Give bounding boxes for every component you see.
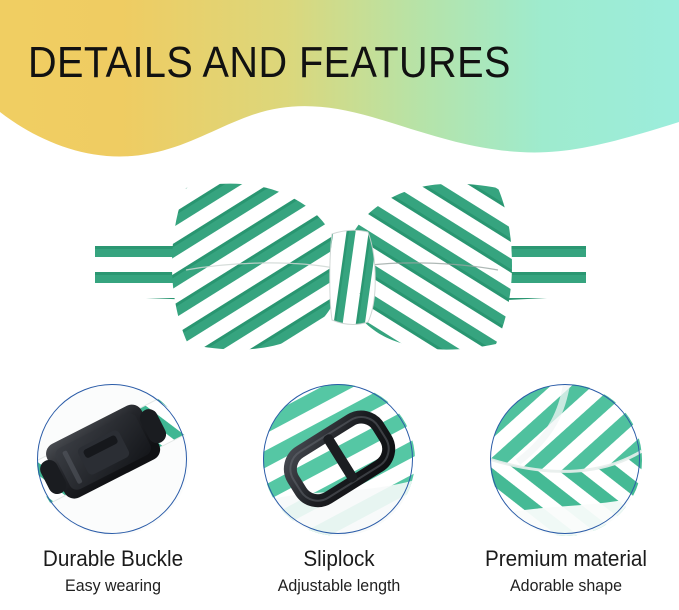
feature-row: Durable Buckle Easy wearing xyxy=(0,378,679,610)
feature-image-material xyxy=(490,384,642,536)
feature-title: Sliplock xyxy=(233,546,445,572)
feature-card-sliplock: Sliplock Adjustable length xyxy=(226,378,452,610)
sliplock-illustration xyxy=(263,384,415,536)
feature-card-material: Premium material Adorable shape xyxy=(453,378,679,610)
feature-card-buckle: Durable Buckle Easy wearing xyxy=(0,378,226,610)
bow-tie-illustration xyxy=(0,168,679,373)
buckle-illustration xyxy=(37,384,189,536)
hero-product-image xyxy=(0,168,679,373)
infographic-page: DETAILS AND FEATURES xyxy=(0,0,679,610)
feature-subtitle: Easy wearing xyxy=(7,575,219,596)
feature-image-sliplock xyxy=(263,384,415,536)
fabric-texture-illustration xyxy=(490,384,642,536)
bow-wing-left xyxy=(165,173,350,368)
page-title: DETAILS AND FEATURES xyxy=(28,38,532,88)
feature-subtitle: Adorable shape xyxy=(460,575,672,596)
strap-right xyxy=(500,230,595,310)
feature-title: Premium material xyxy=(460,546,672,572)
header-banner: DETAILS AND FEATURES xyxy=(0,0,679,170)
feature-subtitle: Adjustable length xyxy=(233,575,445,596)
feature-image-buckle xyxy=(37,384,189,536)
feature-title: Durable Buckle xyxy=(7,546,219,572)
